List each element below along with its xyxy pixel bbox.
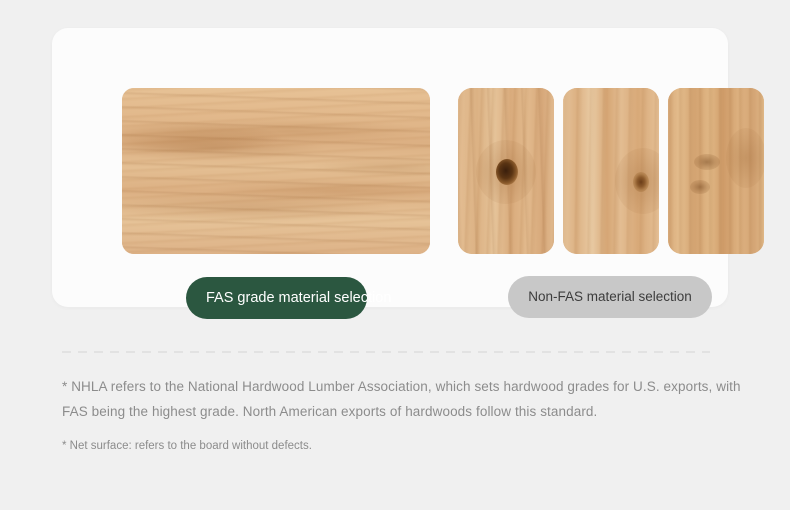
wood-sample-non-fas-board-1[interactable] [458, 88, 554, 254]
footnote-nhla: * NHLA refers to the National Hardwood L… [62, 374, 744, 424]
fas-grade-label-text: FAS grade material selection [206, 290, 391, 306]
footnote-net-surface: * Net surface: refers to the board witho… [62, 437, 752, 455]
mineral-streak-defect-icon [694, 154, 720, 170]
non-fas-grade-label-text: Non-FAS material selection [528, 289, 692, 305]
wood-sample-non-fas-board-2[interactable] [563, 88, 659, 254]
wood-sample-fas-board[interactable] [122, 88, 430, 254]
non-fas-grade-label-pill[interactable]: Non-FAS material selection [508, 276, 712, 318]
footnotes: * NHLA refers to the National Hardwood L… [62, 374, 752, 455]
knot-defect-icon [633, 172, 649, 192]
wood-sample-non-fas-board-3[interactable] [668, 88, 764, 254]
fas-grade-label-pill[interactable]: FAS grade material selection [186, 277, 367, 319]
knot-halo [726, 128, 764, 188]
dashed-divider [62, 351, 710, 353]
wood-grain-arcs-overlay [122, 88, 430, 254]
wood-grade-comparison-card: FAS grade material selection Non-FAS mat… [52, 28, 728, 307]
knot-defect-icon [496, 159, 518, 185]
product-detail-section: FAS grade material selection Non-FAS mat… [0, 0, 790, 529]
mineral-streak-defect-icon [690, 180, 710, 194]
